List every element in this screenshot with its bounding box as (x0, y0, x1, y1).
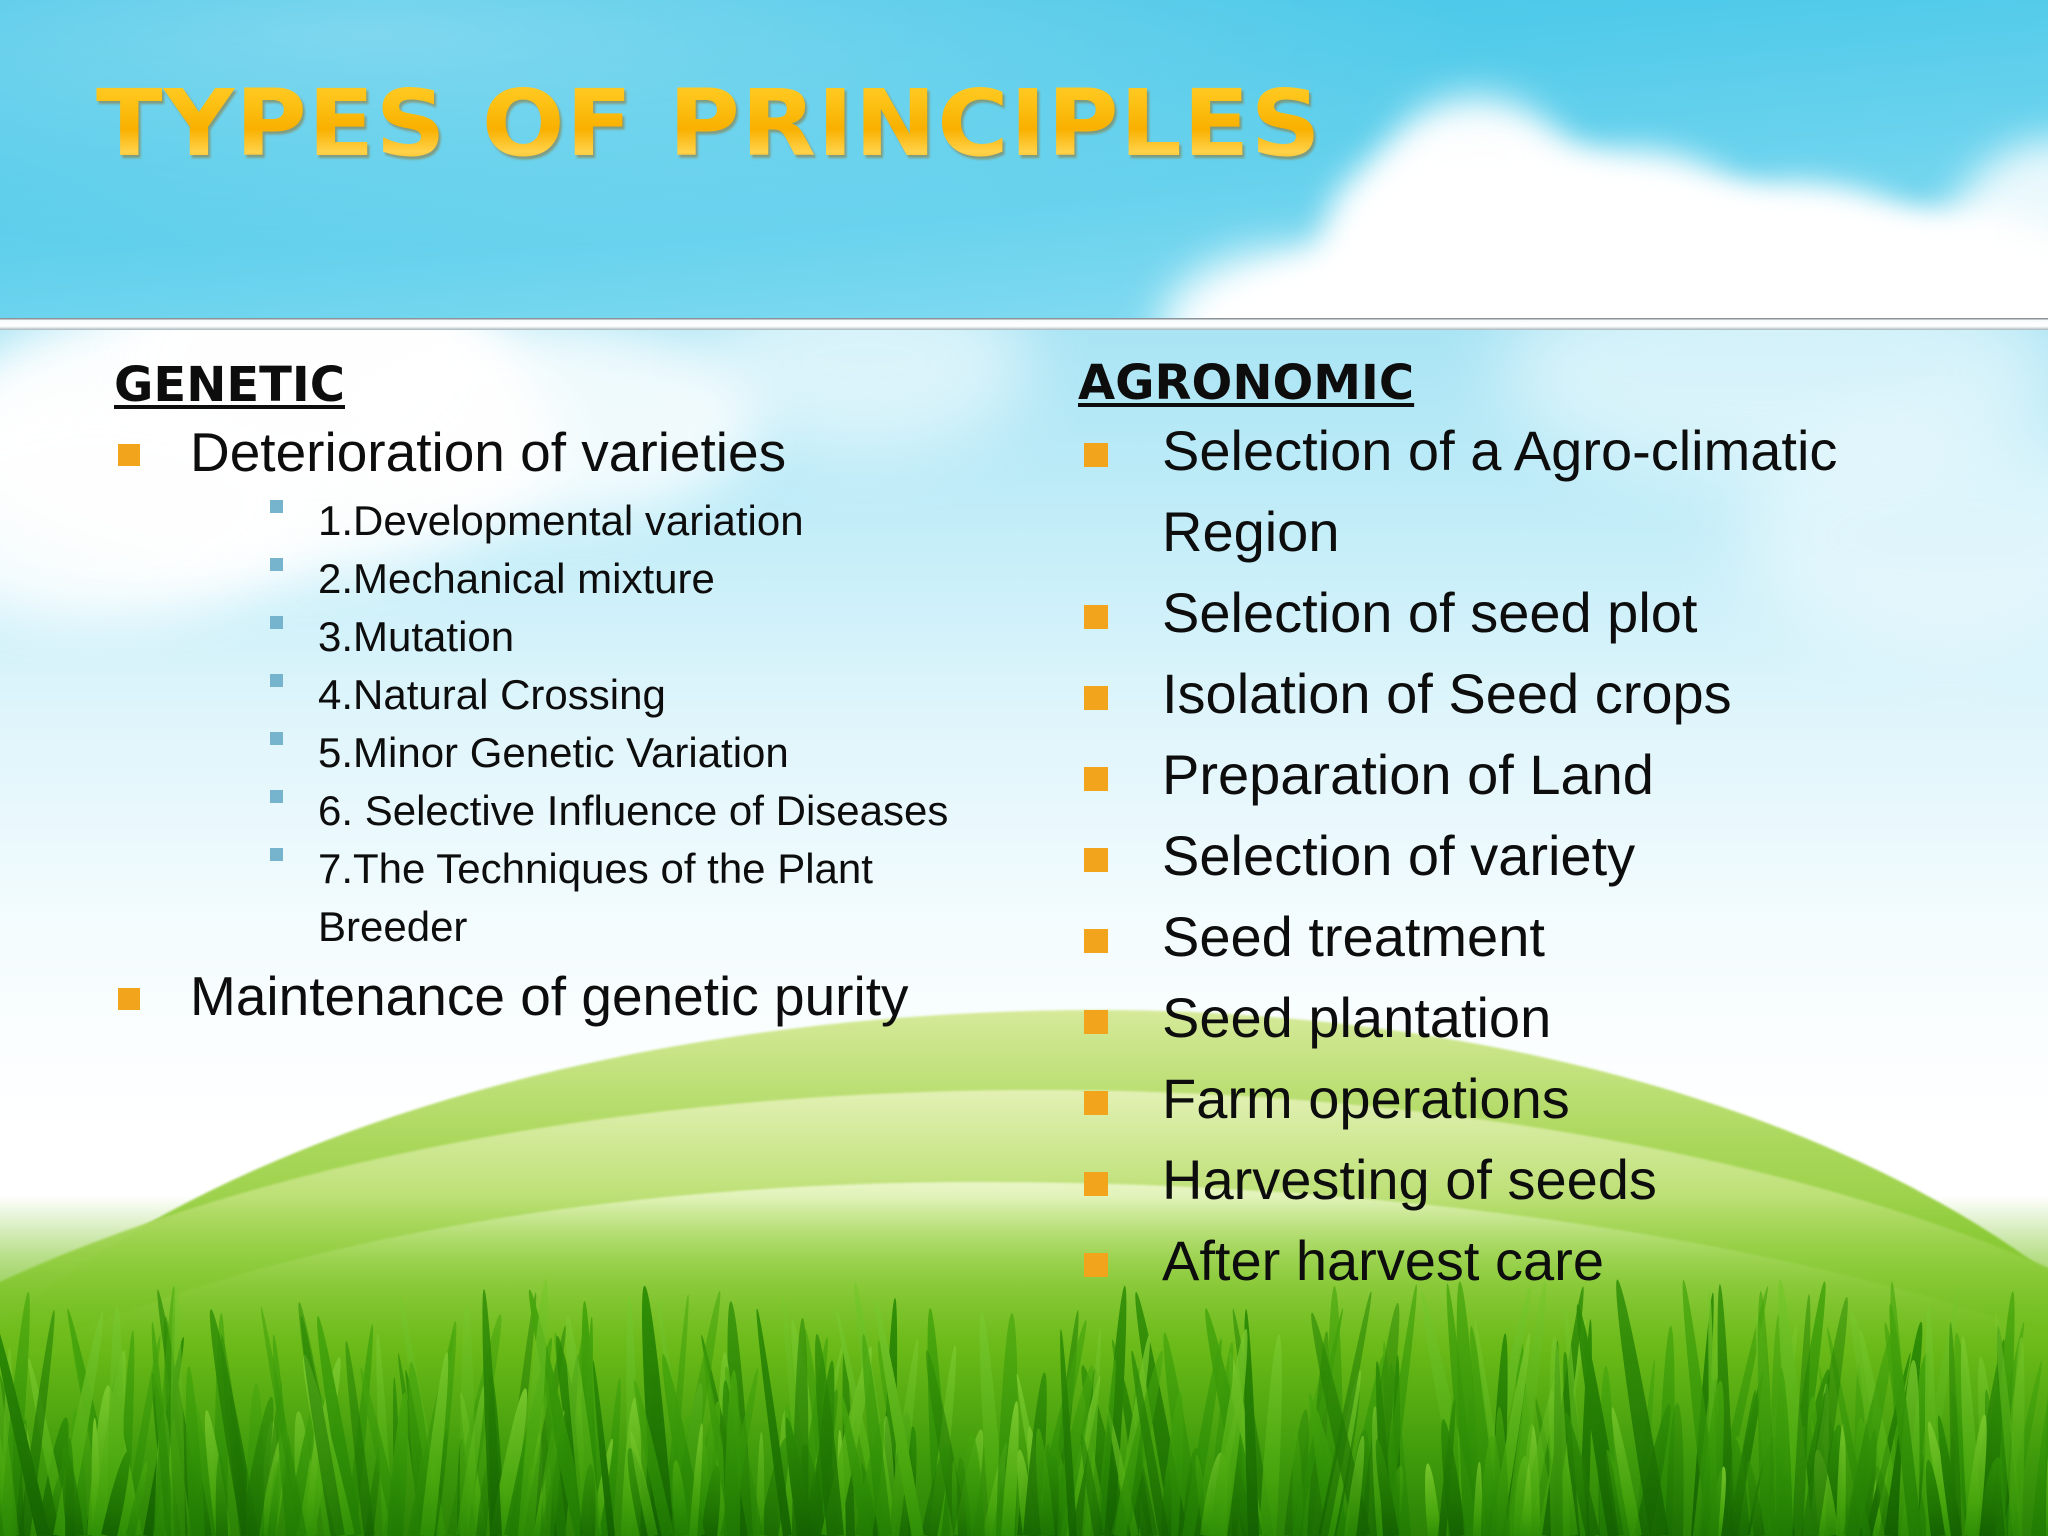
list-item-label: Farm operations (1162, 1058, 1978, 1139)
bullet-list-agronomic: Selection of a Agro-climatic Region Sele… (1078, 410, 1978, 1301)
sub-list-item-label: 3.Mutation (318, 613, 514, 660)
sub-list-item: 2.Mechanical mixture (190, 550, 994, 608)
column-genetic: GENETIC Deterioration of varieties 1.Dev… (104, 330, 994, 1036)
list-item: Seed treatment (1078, 896, 1978, 977)
slide-content: GENETIC Deterioration of varieties 1.Dev… (0, 330, 2048, 1536)
sub-bullet-square-icon (270, 558, 283, 571)
column-agronomic: AGRONOMIC Selection of a Agro-climatic R… (1078, 330, 1978, 1301)
slide-title: TYPES OF PRINCIPLES (96, 74, 1322, 174)
list-item-label: Maintenance of genetic purity (190, 956, 994, 1036)
sub-list-item: 3.Mutation (190, 608, 994, 666)
bullet-square-icon (1084, 848, 1108, 872)
list-item-label: Preparation of Land (1162, 734, 1978, 815)
list-item: Seed plantation (1078, 977, 1978, 1058)
list-item: Farm operations (1078, 1058, 1978, 1139)
list-item-label: Isolation of Seed crops (1162, 653, 1978, 734)
column-heading-agronomic: AGRONOMIC (1078, 330, 1978, 410)
list-item-label: Harvesting of seeds (1162, 1139, 1978, 1220)
bullet-square-icon (1084, 1172, 1108, 1196)
bullet-list-genetic: Deterioration of varieties 1.Development… (104, 412, 994, 1036)
sub-list-item-label: 1.Developmental variation (318, 497, 804, 544)
sub-bullet-square-icon (270, 732, 283, 745)
title-banner: TYPES OF PRINCIPLES (0, 0, 2048, 322)
bullet-square-icon (1084, 767, 1108, 791)
sub-list-item-label: 2.Mechanical mixture (318, 555, 715, 602)
cloud-decoration (1948, 140, 2048, 322)
list-item-label: Seed plantation (1162, 977, 1978, 1058)
list-item-label: Selection of variety (1162, 815, 1978, 896)
sub-list-item: 1.Developmental variation (190, 492, 994, 550)
bullet-square-icon (1084, 686, 1108, 710)
list-item: Maintenance of genetic purity (104, 956, 994, 1036)
list-item: Selection of variety (1078, 815, 1978, 896)
sub-bullet-square-icon (270, 500, 283, 513)
sub-list-item: 4.Natural Crossing (190, 666, 994, 724)
sub-bullet-list-genetic: 1.Developmental variation 2.Mechanical m… (190, 492, 994, 956)
bullet-square-icon (118, 988, 140, 1010)
sub-bullet-square-icon (270, 616, 283, 629)
sub-list-item-label: 7.The Techniques of the Plant Breeder (318, 845, 873, 950)
list-item: Selection of seed plot (1078, 572, 1978, 653)
bullet-square-icon (1084, 1253, 1108, 1277)
sub-list-item-label: 6. Selective Influence of Diseases (318, 787, 948, 834)
sub-list-item: 6. Selective Influence of Diseases (190, 782, 994, 840)
list-item-label: Selection of a Agro-climatic Region (1162, 410, 1978, 572)
bullet-square-icon (118, 444, 140, 466)
list-item: Isolation of Seed crops (1078, 653, 1978, 734)
list-item-label: Selection of seed plot (1162, 572, 1978, 653)
list-item-label: After harvest care (1162, 1220, 1978, 1301)
presentation-slide: TYPES OF PRINCIPLES GENETIC Deterioratio… (0, 0, 2048, 1536)
list-item-label: Deterioration of varieties (190, 412, 994, 492)
list-item: Selection of a Agro-climatic Region (1078, 410, 1978, 572)
sub-bullet-square-icon (270, 674, 283, 687)
list-item: After harvest care (1078, 1220, 1978, 1301)
sub-list-item: 5.Minor Genetic Variation (190, 724, 994, 782)
column-heading-genetic: GENETIC (114, 330, 994, 412)
bullet-square-icon (1084, 1010, 1108, 1034)
bullet-square-icon (1084, 929, 1108, 953)
sub-bullet-square-icon (270, 848, 283, 861)
bullet-square-icon (1084, 443, 1108, 467)
list-item: Harvesting of seeds (1078, 1139, 1978, 1220)
sub-list-item-label: 4.Natural Crossing (318, 671, 666, 718)
list-item: Preparation of Land (1078, 734, 1978, 815)
sub-list-item: 7.The Techniques of the Plant Breeder (190, 840, 994, 956)
bullet-square-icon (1084, 1091, 1108, 1115)
cloud-decoration (1390, 96, 1560, 236)
list-item: Deterioration of varieties 1.Development… (104, 412, 994, 956)
bullet-square-icon (1084, 605, 1108, 629)
sub-bullet-square-icon (270, 790, 283, 803)
list-item-label: Seed treatment (1162, 896, 1978, 977)
sub-list-item-label: 5.Minor Genetic Variation (318, 729, 789, 776)
